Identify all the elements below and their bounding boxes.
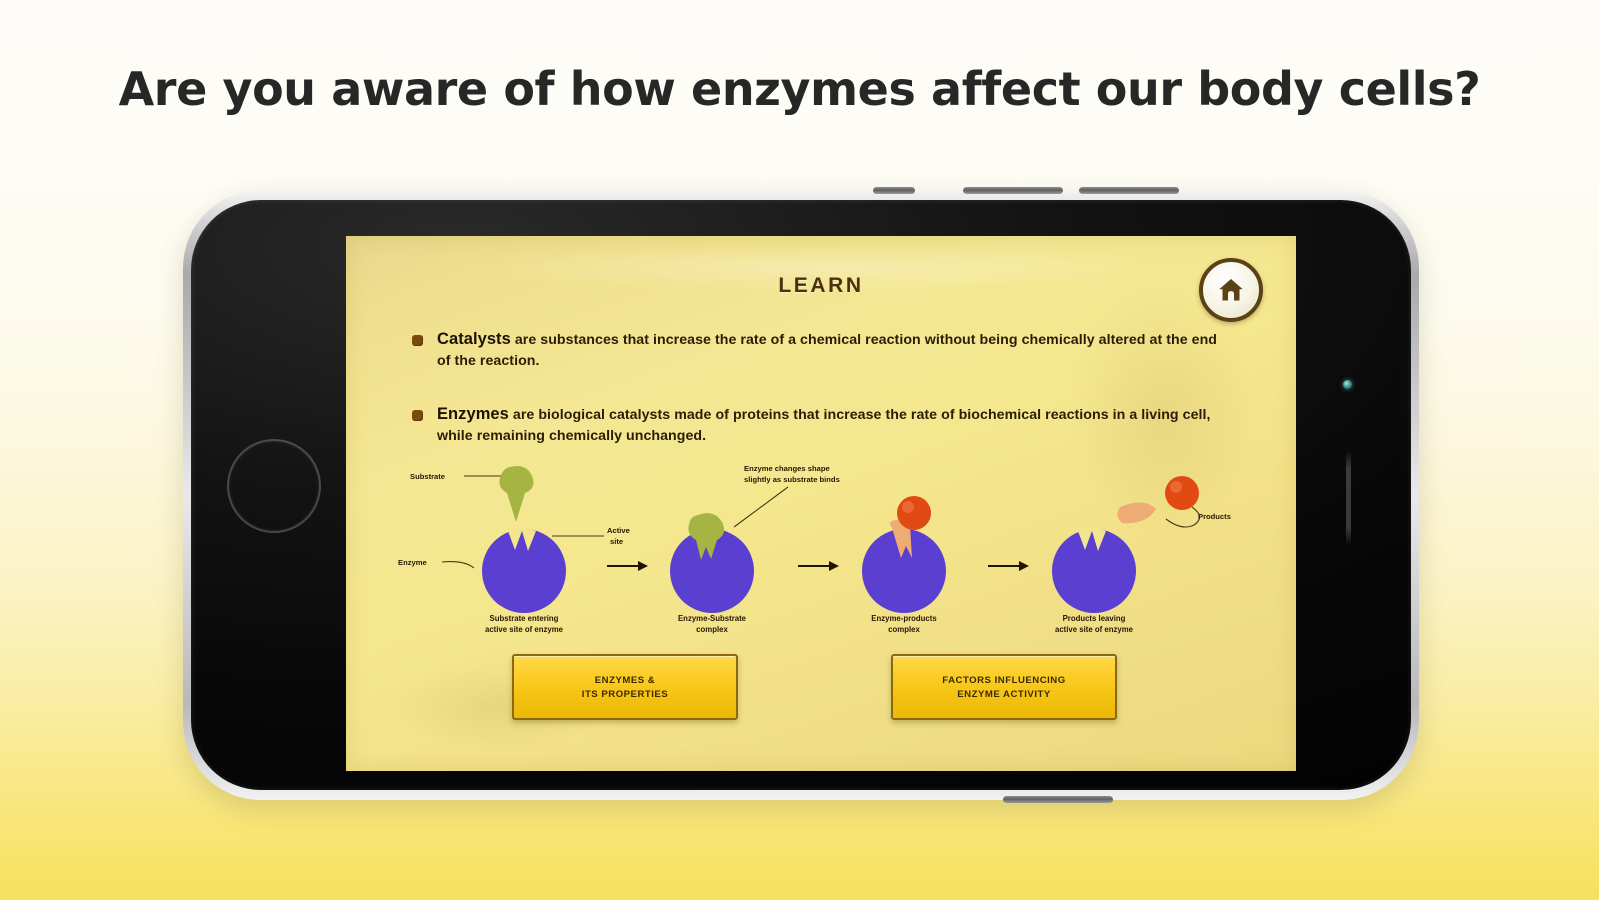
bullet-body-text: are substances that increase the rate of… [437, 332, 1217, 369]
label-active-site-2: site [610, 537, 623, 546]
volume-up-button[interactable] [963, 187, 1063, 194]
enzyme-mechanism-diagram: .lbl { font-family: "Liberation Sans", s… [392, 461, 1252, 641]
enzyme-body-stage-2 [670, 513, 754, 613]
nav-button-label-line2: ENZYME ACTIVITY [957, 689, 1051, 700]
arrow-icon [988, 561, 1029, 571]
bullet-body-text: are biological catalysts made of protein… [437, 407, 1211, 444]
bullet-item: Catalysts are substances that increase t… [412, 329, 1230, 372]
label-active-site: Active [607, 526, 630, 535]
label-shape-change-1: Enzyme changes shape [744, 464, 830, 473]
home-icon-button[interactable] [1199, 258, 1263, 322]
nav-button-label-line2: ITS PROPERTIES [582, 689, 668, 700]
device-home-button[interactable] [227, 439, 321, 533]
arrow-icon [798, 561, 839, 571]
label-substrate: Substrate [410, 472, 445, 481]
page-root: Are you aware of how enzymes affect our … [0, 0, 1599, 900]
substrate-shape [499, 466, 533, 522]
bullet-dot-icon [412, 335, 423, 346]
stage-caption: Enzyme-Substrate [678, 614, 747, 623]
enzyme-body-stage-1 [482, 529, 566, 614]
stage-caption: active site of enzyme [485, 625, 564, 634]
bullet-text: Enzymes are biological catalysts made of… [437, 404, 1230, 447]
released-products [1117, 476, 1199, 523]
volume-down-button[interactable] [1079, 187, 1179, 194]
label-enzyme: Enzyme [398, 558, 427, 567]
nav-button-enzymes-properties[interactable]: ENZYMES & ITS PROPERTIES [512, 654, 738, 720]
stage-caption: Substrate entering [490, 614, 559, 623]
phone-bezel: LEARN Catalysts are substances that incr… [191, 200, 1411, 790]
phone-screen: LEARN Catalysts are substances that incr… [346, 236, 1296, 771]
nav-button-label-line1: ENZYMES & [595, 675, 655, 686]
nav-button-label-line1: FACTORS INFLUENCING [942, 675, 1065, 686]
page-title: LEARN [346, 274, 1296, 298]
stage-caption: complex [696, 625, 728, 634]
learn-app-screen: LEARN Catalysts are substances that incr… [346, 236, 1296, 771]
home-icon [1216, 275, 1246, 305]
phone-mockup: LEARN Catalysts are substances that incr… [183, 190, 1419, 800]
bullet-lead-term: Enzymes [437, 405, 509, 423]
stage-caption: active site of enzyme [1055, 625, 1134, 634]
arrow-icon [607, 561, 648, 571]
stage-caption: Products leaving [1063, 614, 1126, 623]
bullet-dot-icon [412, 410, 423, 421]
enzyme-body-stage-4 [1052, 529, 1136, 614]
bullet-text: Catalysts are substances that increase t… [437, 329, 1230, 372]
stage-caption: complex [888, 625, 920, 634]
bullet-item: Enzymes are biological catalysts made of… [412, 404, 1230, 447]
label-products: Products [1198, 512, 1231, 521]
mute-switch[interactable] [873, 187, 915, 194]
power-button[interactable] [1003, 796, 1113, 803]
page-headline: Are you aware of how enzymes affect our … [0, 60, 1599, 118]
front-camera-icon [1343, 380, 1352, 389]
nav-button-factors-influencing[interactable]: FACTORS INFLUENCING ENZYME ACTIVITY [891, 654, 1117, 720]
bullet-lead-term: Catalysts [437, 330, 511, 348]
enzyme-body-stage-3 [862, 496, 946, 613]
label-shape-change-2: slightly as substrate binds [744, 475, 840, 484]
earpiece-speaker-icon [1346, 452, 1351, 544]
stage-caption: Enzyme-products [871, 614, 937, 623]
